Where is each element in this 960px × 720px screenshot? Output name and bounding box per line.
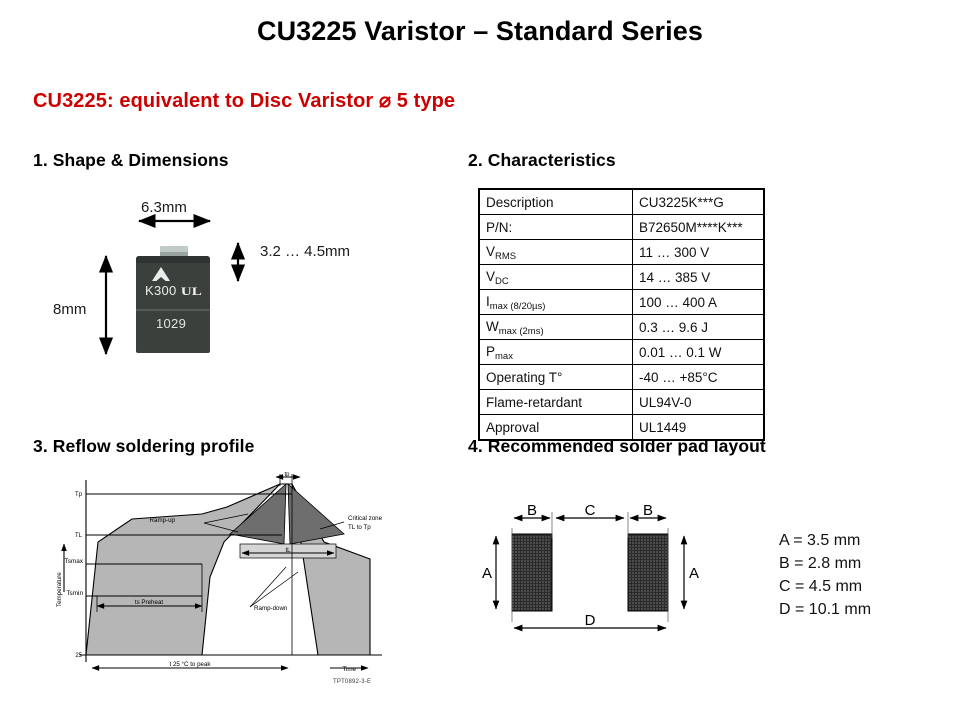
table-cell-value: UL94V-0 [633, 390, 765, 415]
table-row: P/N:B72650M****K*** [479, 215, 764, 240]
table-row: DescriptionCU3225K***G [479, 189, 764, 215]
slide-subtitle: CU3225: equivalent to Disc Varistor ⌀ 5 … [33, 88, 455, 113]
table-row: Pmax0.01 … 0.1 W [479, 340, 764, 365]
table-cell-value: CU3225K***G [633, 189, 765, 215]
table-cell-value: 0.01 … 0.1 W [633, 340, 765, 365]
table-cell-value: 0.3 … 9.6 J [633, 315, 765, 340]
table-cell-parameter: Wmax (2ms) [479, 315, 633, 340]
legend-item: D = 10.1 mm [779, 598, 871, 621]
annotation-critical-zone: Critical zone [348, 515, 383, 522]
table-row: VDC14 … 385 V [479, 265, 764, 290]
part-top-bevel [136, 256, 210, 263]
pad-dimension-legend: A = 3.5 mmB = 2.8 mmC = 4.5 mmD = 10.1 m… [779, 529, 871, 621]
solder-pad-layout-figure: B C B A A D [470, 488, 710, 650]
characteristics-table-body: DescriptionCU3225K***GP/N:B72650M****K**… [479, 189, 764, 440]
annotation-liquidus-dwell: tL [285, 548, 291, 554]
table-cell-parameter: Description [479, 189, 633, 215]
annotation-total-time: t 25 °C to peak [170, 661, 212, 668]
legend-item: C = 4.5 mm [779, 575, 871, 598]
y-tick-25: 25 [75, 653, 82, 659]
part-dimension-arrows [90, 200, 390, 380]
callout-a-right: A [689, 565, 699, 582]
callout-d: D [585, 612, 596, 629]
table-row: Imax (8/20µs)100 … 400 A [479, 290, 764, 315]
callout-c: C [585, 502, 596, 519]
table-row: Flame-retardantUL94V-0 [479, 390, 764, 415]
callout-b-left: B [527, 502, 537, 519]
reflow-profile-chart: Temperature Time Tp TL Tsmax Tsmin 25 tp… [52, 472, 402, 677]
table-cell-value: -40 … +85°C [633, 365, 765, 390]
table-cell-parameter: Flame-retardant [479, 390, 633, 415]
table-cell-parameter: Operating T° [479, 365, 633, 390]
part-type-code-label: K300 [145, 283, 177, 298]
annotation-ramp-up: Ramp-up [150, 517, 176, 524]
section-heading-reflow: 3. Reflow soldering profile [33, 436, 254, 457]
table-cell-parameter: Pmax [479, 340, 633, 365]
y-tick-tp: Tp [75, 492, 83, 498]
table-row: Operating T°-40 … +85°C [479, 365, 764, 390]
table-cell-value: 14 … 385 V [633, 265, 765, 290]
part-face-divider [136, 309, 210, 311]
slide-title: CU3225 Varistor – Standard Series [0, 16, 960, 47]
table-cell-value: B72650M****K*** [633, 215, 765, 240]
annotation-critical-zone-range: TL to Tp [348, 524, 371, 531]
annotation-ramp-down: Ramp-down [254, 605, 288, 612]
table-cell-parameter: Approval [479, 415, 633, 441]
varistor-component-body: K300 UL 1029 [136, 256, 210, 353]
legend-item: B = 2.8 mm [779, 552, 871, 575]
y-tick-tl: TL [75, 533, 83, 539]
table-row: VRMS11 … 300 V [479, 240, 764, 265]
table-row: Wmax (2ms)0.3 … 9.6 J [479, 315, 764, 340]
table-cell-value: 100 … 400 A [633, 290, 765, 315]
legend-item: A = 3.5 mm [779, 529, 871, 552]
polarity-arrow-icon [152, 267, 170, 281]
solder-pad-left [512, 534, 552, 611]
dimension-label-height: 8mm [53, 301, 86, 318]
table-cell-value: 11 … 300 V [633, 240, 765, 265]
annotation-peak-dwell: tp [284, 472, 290, 478]
critical-zone-right [288, 484, 344, 544]
table-cell-value: UL1449 [633, 415, 765, 441]
callout-b-right: B [643, 502, 653, 519]
part-date-code-label: 1029 [156, 316, 186, 331]
slide-canvas: CU3225 Varistor – Standard Series CU3225… [0, 0, 960, 720]
characteristics-table: DescriptionCU3225K***GP/N:B72650M****K**… [478, 188, 765, 441]
x-axis-label: Time [342, 666, 356, 673]
table-row: ApprovalUL1449 [479, 415, 764, 441]
ul-mark-icon: UL [181, 284, 202, 299]
y-tick-tsmin: Tsmin [66, 590, 83, 597]
section-heading-characteristics: 2. Characteristics [468, 150, 616, 171]
y-axis-label: Temperature [56, 572, 63, 607]
table-cell-parameter: P/N: [479, 215, 633, 240]
table-cell-parameter: Imax (8/20µs) [479, 290, 633, 315]
section-heading-shape: 1. Shape & Dimensions [33, 150, 229, 171]
callout-a-left: A [482, 565, 492, 582]
y-tick-tsmax: Tsmax [65, 558, 84, 565]
figure-reference-code: TPT0892-3-E [333, 679, 371, 685]
table-cell-parameter: VRMS [479, 240, 633, 265]
solder-pad-right [628, 534, 668, 611]
table-cell-parameter: VDC [479, 265, 633, 290]
annotation-preheat: ts Preheat [135, 599, 163, 606]
